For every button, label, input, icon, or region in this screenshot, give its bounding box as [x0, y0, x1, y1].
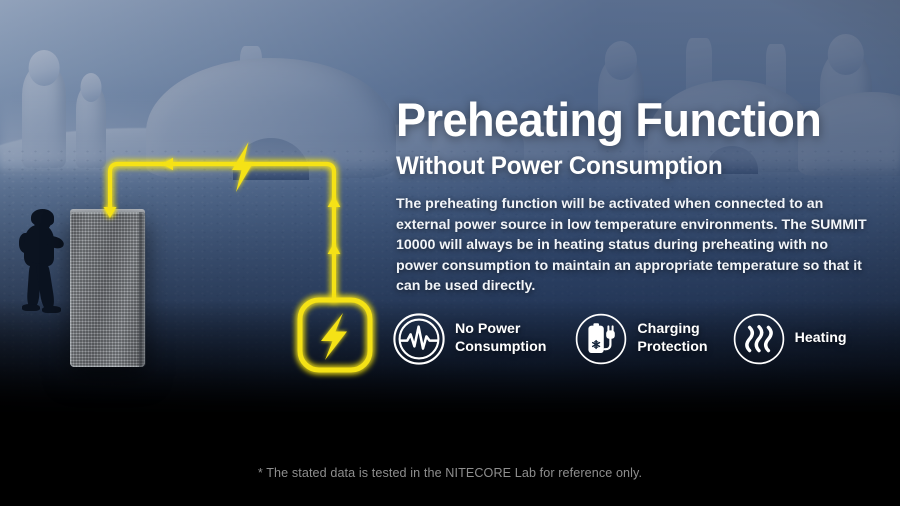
footnote-disclaimer: * The stated data is tested in the NITEC…	[0, 466, 900, 480]
feature-label: Charging Protection	[637, 321, 707, 357]
description-paragraph: The preheating function will be activate…	[396, 194, 868, 297]
power-bank-side-edge	[139, 212, 146, 367]
feature-no-power-consumption: No Power Consumption	[392, 312, 546, 366]
feature-list: No Power Consumption	[392, 312, 847, 366]
no-power-waveform-icon	[392, 312, 446, 366]
leg-front	[35, 262, 55, 309]
foot-front	[42, 306, 61, 313]
feature-charging-protection: Charging Protection	[574, 312, 707, 366]
heating-waves-icon	[732, 312, 786, 366]
feature-heating: Heating	[732, 312, 847, 366]
feature-label: Heating	[795, 330, 847, 348]
page-title: Preheating Function	[396, 96, 872, 144]
head	[34, 211, 51, 230]
page-subtitle: Without Power Consumption	[396, 152, 877, 181]
foot-back	[22, 304, 40, 311]
black-footer-band	[0, 412, 900, 506]
charging-protection-icon	[574, 312, 628, 366]
summit-10000-power-bank	[70, 212, 145, 367]
preheating-function-banner: Preheating Function Without Power Consum…	[0, 0, 900, 506]
person-silhouette	[14, 211, 66, 316]
copy-block: Preheating Function Without Power Consum…	[396, 96, 892, 297]
feature-label: No Power Consumption	[455, 321, 546, 357]
